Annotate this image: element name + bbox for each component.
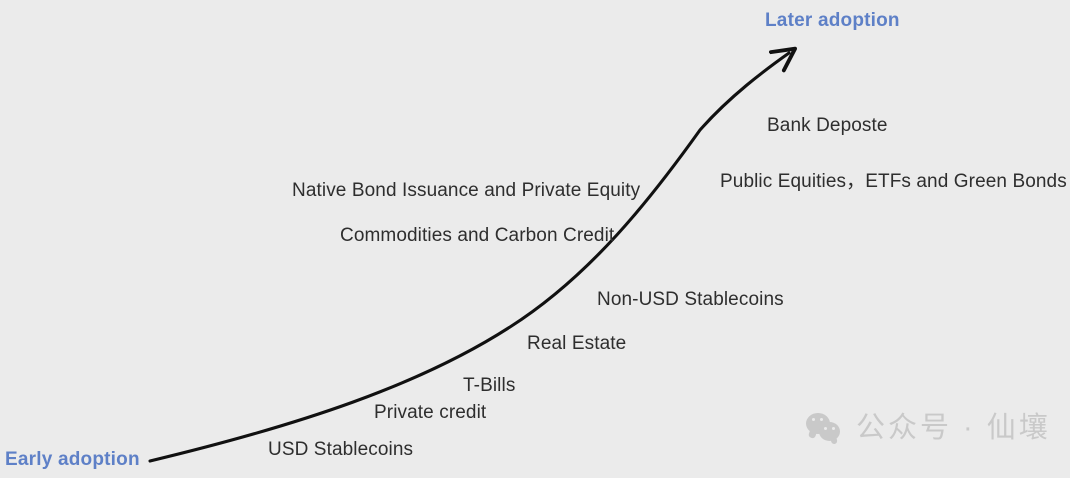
early-adoption-label: Early adoption (5, 450, 140, 469)
later-adoption-label: Later adoption (765, 11, 900, 30)
stage-label-usd-stablecoins: USD Stablecoins (268, 440, 413, 459)
watermark-text: 公众号 · 仙壤 (856, 414, 1051, 443)
stage-label-non-usd-stablecoins: Non-USD Stablecoins (597, 290, 784, 309)
stage-label-commodities-carbon-credit: Commodities and Carbon Credit (340, 226, 614, 245)
stage-label-public-equities-etfs-green-bonds: Public Equities，ETFs and Green Bonds (720, 172, 1067, 191)
stage-label-t-bills: T-Bills (463, 376, 515, 395)
wechat-icon (806, 411, 844, 445)
watermark: 公众号 · 仙壤 (806, 411, 1051, 445)
diagram-canvas: Early adoption Later adoption USD Stable… (0, 0, 1070, 478)
stage-label-bank-deposte: Bank Deposte (767, 116, 888, 135)
stage-label-real-estate: Real Estate (527, 334, 626, 353)
stage-label-native-bond-private-equity: Native Bond Issuance and Private Equity (292, 181, 640, 200)
stage-label-private-credit: Private credit (374, 403, 486, 422)
adoption-curve-path (150, 53, 789, 461)
